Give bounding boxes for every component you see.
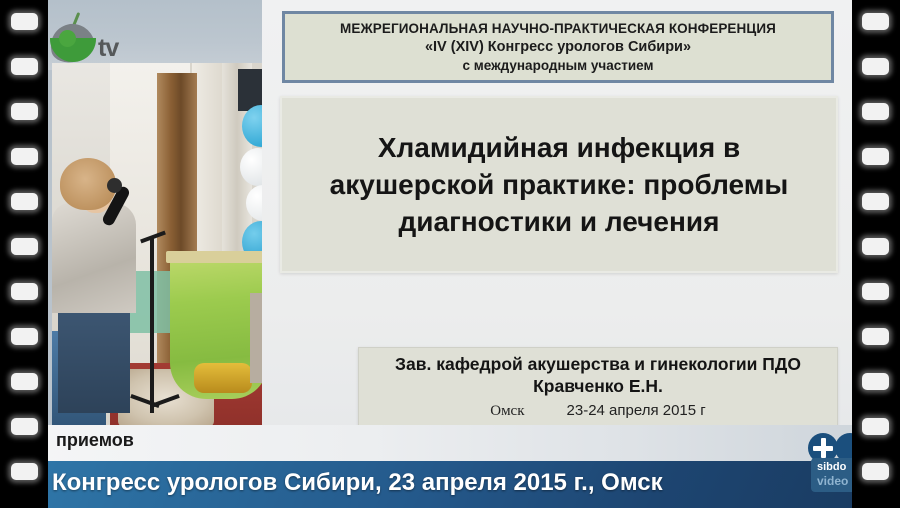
film-sprocket-hole xyxy=(11,58,38,75)
film-sprocket-hole xyxy=(862,463,889,480)
film-sprocket-hole xyxy=(862,58,889,75)
film-sprocket-hole xyxy=(862,418,889,435)
conference-header-box: МЕЖРЕГИОНАЛЬНАЯ НАУЧНО-ПРАКТИЧЕСКАЯ КОНФ… xyxy=(282,11,834,83)
author-name: Кравченко Е.Н. xyxy=(359,376,837,398)
film-sprocket-hole xyxy=(11,148,38,165)
photo-speaker-skirt xyxy=(58,303,130,413)
logo-tv-label: tv xyxy=(98,34,118,63)
satellite-dish-logo-icon: tv xyxy=(48,8,138,64)
photo-gold-sash xyxy=(194,363,252,393)
lower-third-text: Конгресс урологов Сибири, 23 апреля 2015… xyxy=(52,469,663,497)
photo-mic-stand-pole xyxy=(150,238,154,413)
film-sprocket-hole xyxy=(862,373,889,390)
overlay-caption-text: приемов xyxy=(56,430,134,451)
conference-title-line3: с международным участием xyxy=(463,58,654,73)
film-sprocket-hole xyxy=(862,238,889,255)
slide-title-box: Хламидийная инфекция в акушерской практи… xyxy=(280,96,838,273)
author-city: Омск xyxy=(490,403,524,420)
photo-speaker-body xyxy=(52,203,136,313)
video-player-frame: tv xyxy=(0,0,900,508)
film-sprocket-hole xyxy=(862,13,889,30)
video-content-area: tv xyxy=(40,0,860,508)
logo-dot xyxy=(59,30,76,47)
film-sprocket-hole xyxy=(11,193,38,210)
author-meta-row: Омск 23-24 апреля 2015 г xyxy=(359,402,837,420)
author-info-box: Зав. кафедрой акушерства и гинекологии П… xyxy=(358,347,838,431)
film-sprocket-hole xyxy=(11,373,38,390)
film-sprocket-hole xyxy=(862,283,889,300)
film-sprocket-hole xyxy=(11,283,38,300)
film-sprocket-hole xyxy=(862,328,889,345)
slide-title: Хламидийная инфекция в акушерской практи… xyxy=(282,129,836,241)
overlay-caption-band: приемов xyxy=(40,425,860,461)
film-sprocket-hole xyxy=(862,193,889,210)
film-sprocket-hole xyxy=(11,13,38,30)
conference-title-line1: МЕЖРЕГИОНАЛЬНАЯ НАУЧНО-ПРАКТИЧЕСКАЯ КОНФ… xyxy=(340,21,776,36)
film-sprocket-hole xyxy=(11,463,38,480)
film-strip-left xyxy=(0,0,48,508)
lower-third-bar: Конгресс урологов Сибири, 23 апреля 2015… xyxy=(40,461,860,508)
watermark-name: sibdo xyxy=(817,461,846,473)
film-sprocket-hole xyxy=(862,103,889,120)
author-position: Зав. кафедрой акушерства и гинекологии П… xyxy=(359,354,837,376)
film-sprocket-hole xyxy=(11,418,38,435)
film-sprocket-hole xyxy=(11,103,38,120)
film-sprocket-hole xyxy=(862,148,889,165)
photo-panel: tv xyxy=(40,0,274,456)
watermark-sub: video xyxy=(817,474,848,488)
film-sprocket-hole xyxy=(11,328,38,345)
photo-microphone-head xyxy=(107,178,122,193)
conference-title-line2: «IV (XIV) Конгресс урологов Сибири» xyxy=(425,39,691,55)
speaker-photo xyxy=(52,63,274,435)
film-sprocket-hole xyxy=(11,238,38,255)
photo-podium-top xyxy=(166,251,272,263)
author-date: 23-24 апреля 2015 г xyxy=(567,402,706,419)
presentation-slide: МЕЖРЕГИОНАЛЬНАЯ НАУЧНО-ПРАКТИЧЕСКАЯ КОНФ… xyxy=(262,0,860,441)
film-strip-right xyxy=(852,0,900,508)
